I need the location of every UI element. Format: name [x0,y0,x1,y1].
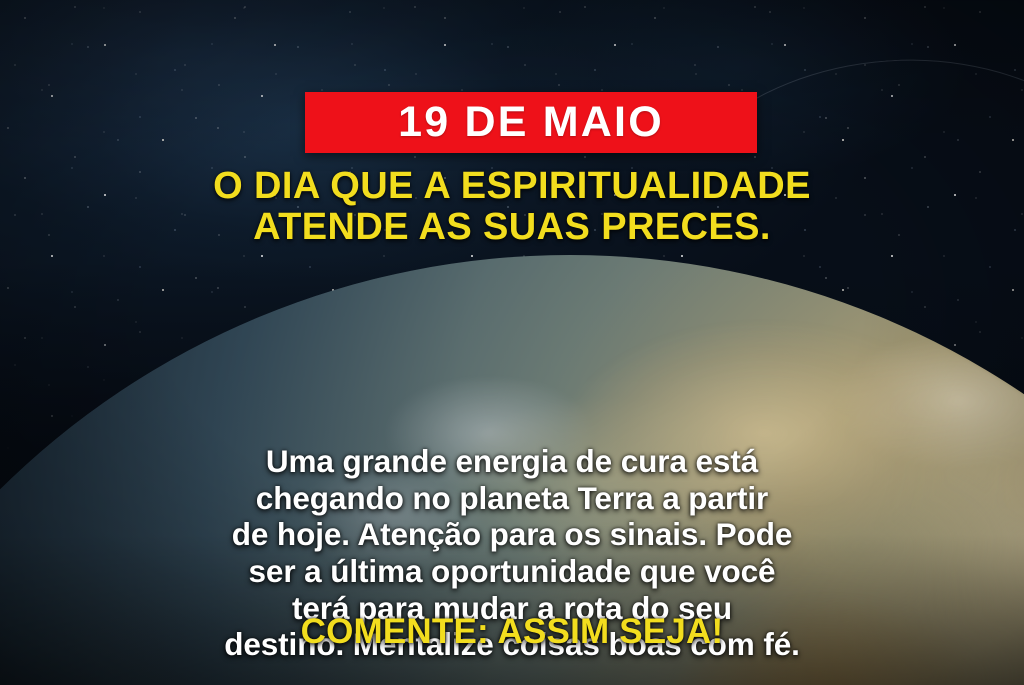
headline-line-1: O DIA QUE A ESPIRITUALIDADE [0,166,1024,207]
body-line-3: de hoje. Atenção para os sinais. Pode [0,516,1024,553]
date-banner-label: 19 DE MAIO [398,101,664,144]
headline: O DIA QUE A ESPIRITUALIDADE ATENDE AS SU… [0,166,1024,249]
date-banner: 19 DE MAIO [305,92,757,153]
poster-canvas: 19 DE MAIO O DIA QUE A ESPIRITUALIDADE A… [0,0,1024,685]
body-line-2: chegando no planeta Terra a partir [0,480,1024,517]
headline-line-2: ATENDE AS SUAS PRECES. [0,207,1024,248]
call-to-action: COMENTE: ASSIM SEJA! [0,612,1024,652]
poster-content: 19 DE MAIO O DIA QUE A ESPIRITUALIDADE A… [0,0,1024,685]
body-line-1: Uma grande energia de cura está [0,443,1024,480]
cta-label: COMENTE: ASSIM SEJA! [301,612,724,651]
body-line-4: ser a última oportunidade que você [0,553,1024,590]
